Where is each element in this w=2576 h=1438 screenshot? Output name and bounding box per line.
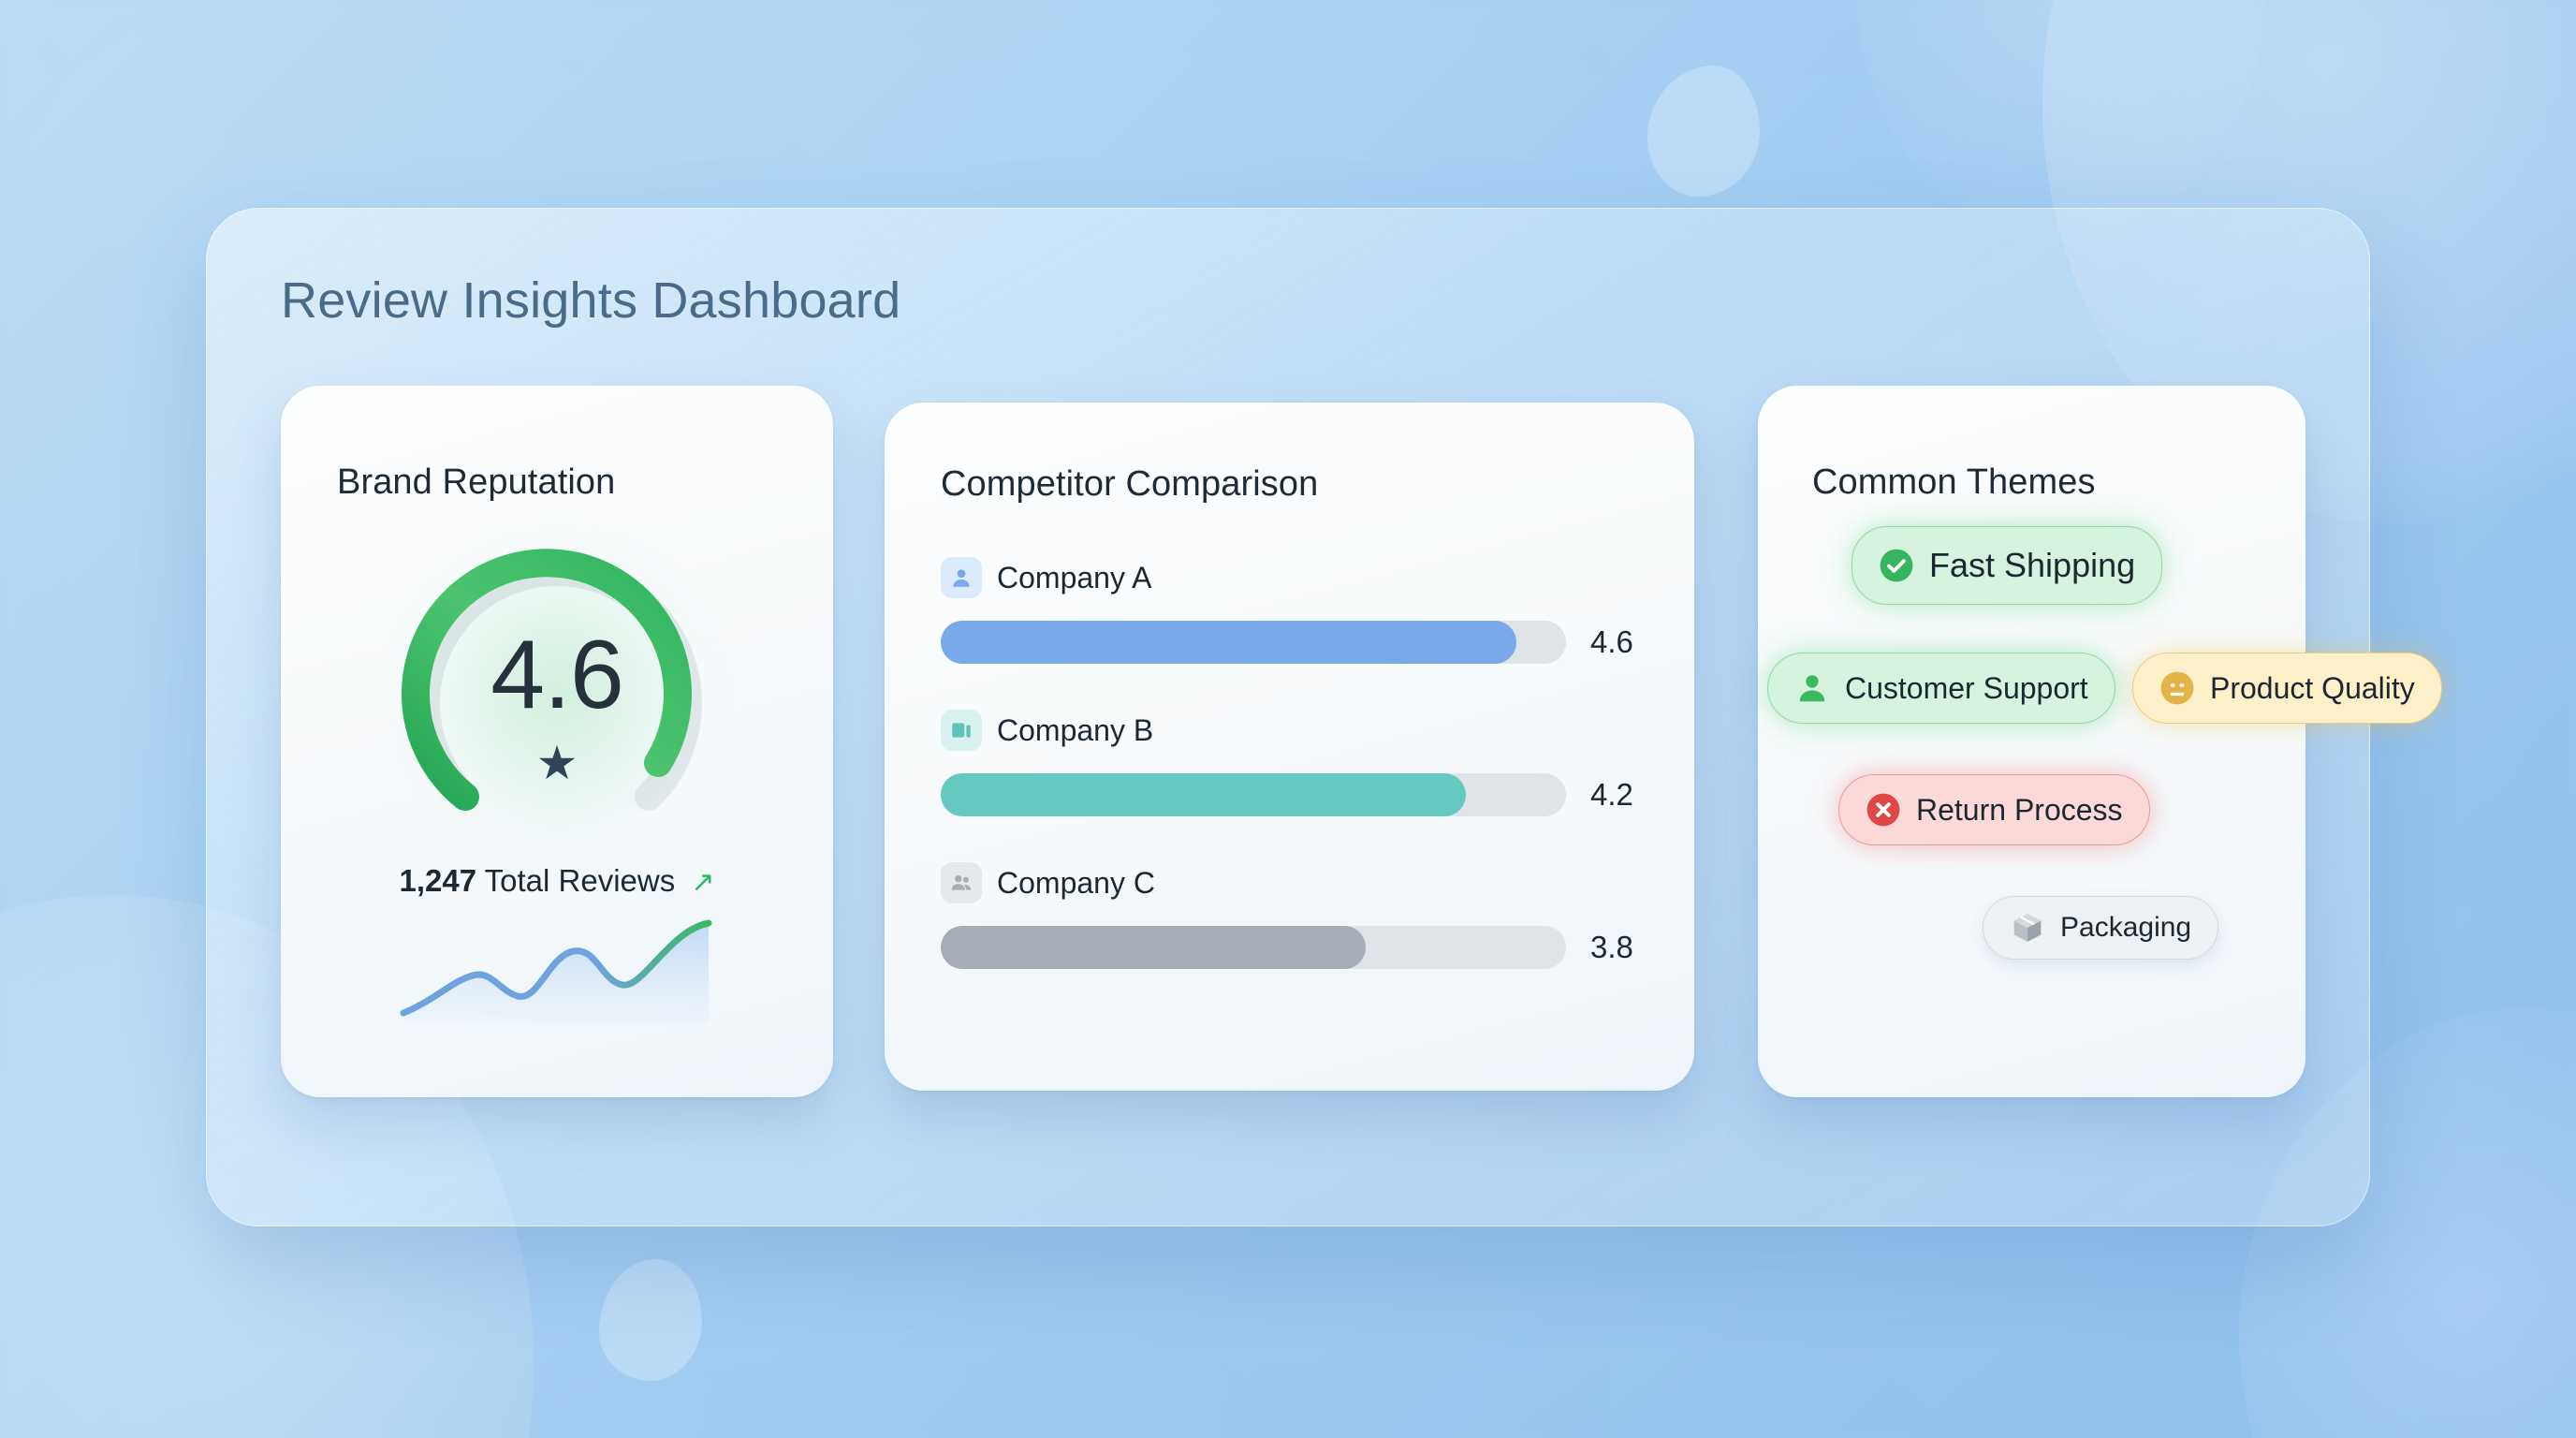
trend-up-arrow-icon: ↗	[691, 866, 714, 899]
competitor-bar-fill	[941, 621, 1516, 664]
brand-reputation-title: Brand Reputation	[337, 462, 615, 503]
theme-chip-label: Product Quality	[2210, 671, 2415, 706]
total-reviews-label: Total Reviews	[485, 863, 676, 898]
competitor-bar-track	[941, 926, 1566, 969]
competitor-list: Company A 4.6 Company B 4.2	[941, 557, 1652, 1015]
total-reviews-row: 1,247 Total Reviews ↗	[281, 863, 833, 899]
competitor-header: Company B	[941, 710, 1652, 751]
x-circle-icon	[1866, 792, 1901, 828]
competitor-bar-track	[941, 621, 1566, 664]
themes-chip-area: Fast Shipping Customer Support Product Q…	[1758, 526, 2305, 1050]
competitor-rating-value: 4.2	[1590, 777, 1633, 813]
competitor-comparison-card: Competitor Comparison Company A 4.6	[885, 403, 1694, 1091]
person-icon	[1794, 670, 1830, 706]
competitor-bar-fill	[941, 773, 1466, 816]
theme-chip-product-quality[interactable]: Product Quality	[2132, 653, 2442, 724]
competitor-rating-value: 4.6	[1590, 624, 1633, 660]
competitor-row[interactable]: Company C 3.8	[941, 862, 1652, 1015]
competitor-name: Company C	[997, 866, 1155, 901]
theme-chip-return-process[interactable]: Return Process	[1838, 774, 2150, 845]
star-icon: ★	[360, 740, 754, 786]
brand-reputation-card: Brand Reputation 4.6 ★ 1,247 Total Revie…	[281, 386, 833, 1097]
competitor-rating-value: 3.8	[1590, 930, 1633, 965]
theme-chip-label: Customer Support	[1845, 671, 2088, 706]
competitor-bar-row: 3.8	[941, 926, 1652, 969]
neutral-face-icon	[2159, 670, 2195, 706]
competitor-comparison-title: Competitor Comparison	[941, 464, 1318, 505]
competitor-header: Company A	[941, 557, 1652, 598]
competitor-bar-track	[941, 773, 1566, 816]
theme-chip-packaging[interactable]: Packaging	[1983, 896, 2218, 960]
theme-chip-customer-support[interactable]: Customer Support	[1767, 653, 2115, 724]
sparkline-area	[403, 923, 709, 1024]
theme-chip-fast-shipping[interactable]: Fast Shipping	[1851, 526, 2162, 605]
background-blob-top-right-2	[1855, 0, 2267, 243]
common-themes-title: Common Themes	[1812, 462, 2096, 503]
competitor-name: Company A	[997, 561, 1151, 595]
theme-chip-label: Packaging	[2060, 912, 2191, 944]
brand-score-value: 4.6	[360, 620, 754, 731]
total-reviews-count: 1,247	[399, 863, 476, 898]
person-icon	[941, 557, 982, 598]
background-blob-small-bottom	[599, 1259, 702, 1381]
theme-chip-label: Return Process	[1916, 793, 2123, 828]
package-box-icon	[2010, 910, 2045, 946]
check-circle-icon	[1879, 548, 1914, 583]
page-title: Review Insights Dashboard	[281, 271, 900, 330]
competitor-bar-row: 4.2	[941, 773, 1652, 816]
reviews-sparkline	[398, 910, 716, 1027]
brand-score-gauge: 4.6 ★	[360, 526, 754, 835]
theme-chip-label: Fast Shipping	[1929, 546, 2135, 585]
competitor-header: Company C	[941, 862, 1652, 903]
competitor-name: Company B	[997, 713, 1153, 748]
competitor-row[interactable]: Company A 4.6	[941, 557, 1652, 710]
competitor-row[interactable]: Company B 4.2	[941, 710, 1652, 862]
building-icon	[941, 710, 982, 751]
people-icon	[941, 862, 982, 903]
background-blob-small-top	[1647, 66, 1760, 197]
competitor-bar-row: 4.6	[941, 621, 1652, 664]
competitor-bar-fill	[941, 926, 1366, 969]
